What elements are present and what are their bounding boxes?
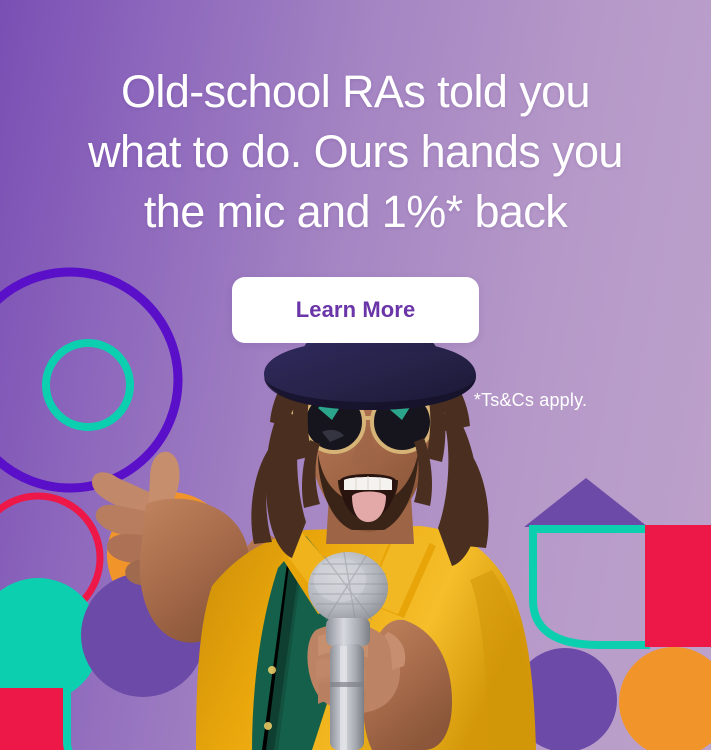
copy-layer: Old-school RAs told you what to do. Ours… [0, 0, 711, 750]
headline-line-2: what to do. Ours hands you [0, 122, 711, 182]
promo-banner: Old-school RAs told you what to do. Ours… [0, 0, 711, 750]
page-title: Old-school RAs told you what to do. Ours… [0, 62, 711, 242]
cta-container: Learn More [0, 277, 711, 343]
headline-line-3: the mic and 1%* back [0, 182, 711, 242]
headline-line-1: Old-school RAs told you [0, 62, 711, 122]
terms-disclaimer: *Ts&Cs apply. [0, 390, 711, 411]
learn-more-button[interactable]: Learn More [232, 277, 480, 343]
